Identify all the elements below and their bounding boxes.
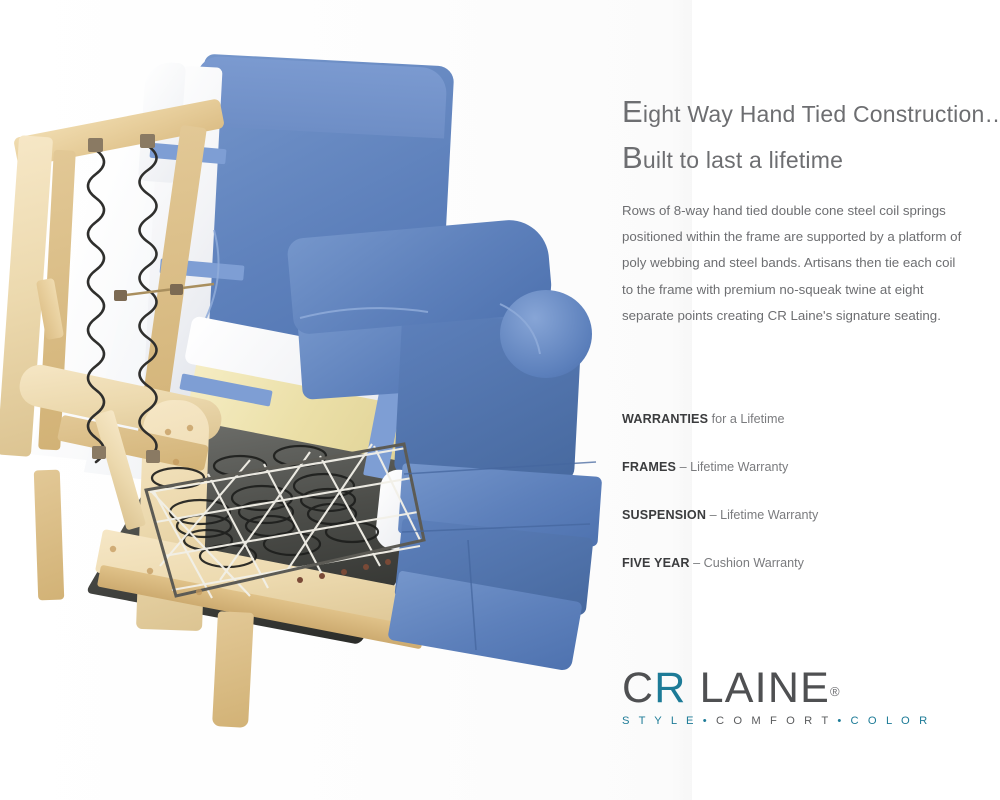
logo-laine: LAINE bbox=[687, 664, 830, 712]
registered-trademark-icon: ® bbox=[830, 684, 840, 699]
tagline-comfort: C O M F O R T bbox=[716, 715, 831, 727]
headline-line-2: Built to last a lifetime bbox=[622, 142, 843, 173]
warranty-term: FIVE YEAR bbox=[622, 556, 690, 570]
frame-back-leg bbox=[34, 470, 65, 601]
tagline-style: S T Y L E bbox=[622, 715, 697, 727]
cr-laine-logo: CR LAINE® S T Y L E • C O M F O R T • C … bbox=[622, 666, 832, 727]
tagline-color: C O L O R bbox=[851, 715, 931, 727]
headline-2-dropcap: B bbox=[622, 140, 643, 175]
logo-wordmark: CR LAINE® bbox=[622, 666, 832, 714]
tagline-dot-2: • bbox=[831, 715, 850, 727]
headline-1-dropcap: E bbox=[622, 94, 643, 129]
content-column: Eight Way Hand Tied Construction… Built … bbox=[622, 0, 1000, 800]
product-cutaway-photo bbox=[0, 0, 700, 800]
headline-line-1: Eight Way Hand Tied Construction… bbox=[622, 96, 1000, 127]
frame-front-leg bbox=[212, 611, 254, 728]
tagline-dot-1: • bbox=[697, 715, 716, 727]
warranty-term: FRAMES bbox=[622, 460, 676, 474]
warranty-item-five-year: FIVE YEAR – Cushion Warranty bbox=[622, 556, 804, 570]
logo-letter-r: R bbox=[654, 664, 686, 712]
warranty-term: WARRANTIES bbox=[622, 412, 708, 426]
warranty-detail: – Lifetime Warranty bbox=[676, 460, 788, 474]
warranty-item-suspension: SUSPENSION – Lifetime Warranty bbox=[622, 508, 818, 522]
headline-2-rest: uilt to last a lifetime bbox=[643, 147, 843, 173]
body-paragraph: Rows of 8-way hand tied double cone stee… bbox=[622, 198, 962, 329]
warranty-detail: – Cushion Warranty bbox=[690, 556, 804, 570]
warranty-detail: – Lifetime Warranty bbox=[706, 508, 818, 522]
back-cushion-crown bbox=[194, 56, 447, 139]
headline-1-rest: ight Way Hand Tied Construction… bbox=[643, 101, 1000, 127]
warranty-term: SUSPENSION bbox=[622, 508, 706, 522]
warranty-item-warranties: WARRANTIES for a Lifetime bbox=[622, 412, 784, 426]
logo-letter-c: C bbox=[622, 664, 654, 712]
page-root: Eight Way Hand Tied Construction… Built … bbox=[0, 0, 1000, 800]
warranty-item-frames: FRAMES – Lifetime Warranty bbox=[622, 460, 788, 474]
logo-tagline: S T Y L E • C O M F O R T • C O L O R bbox=[622, 715, 832, 727]
warranty-detail: for a Lifetime bbox=[708, 412, 784, 426]
rolled-arm-front bbox=[500, 290, 592, 378]
